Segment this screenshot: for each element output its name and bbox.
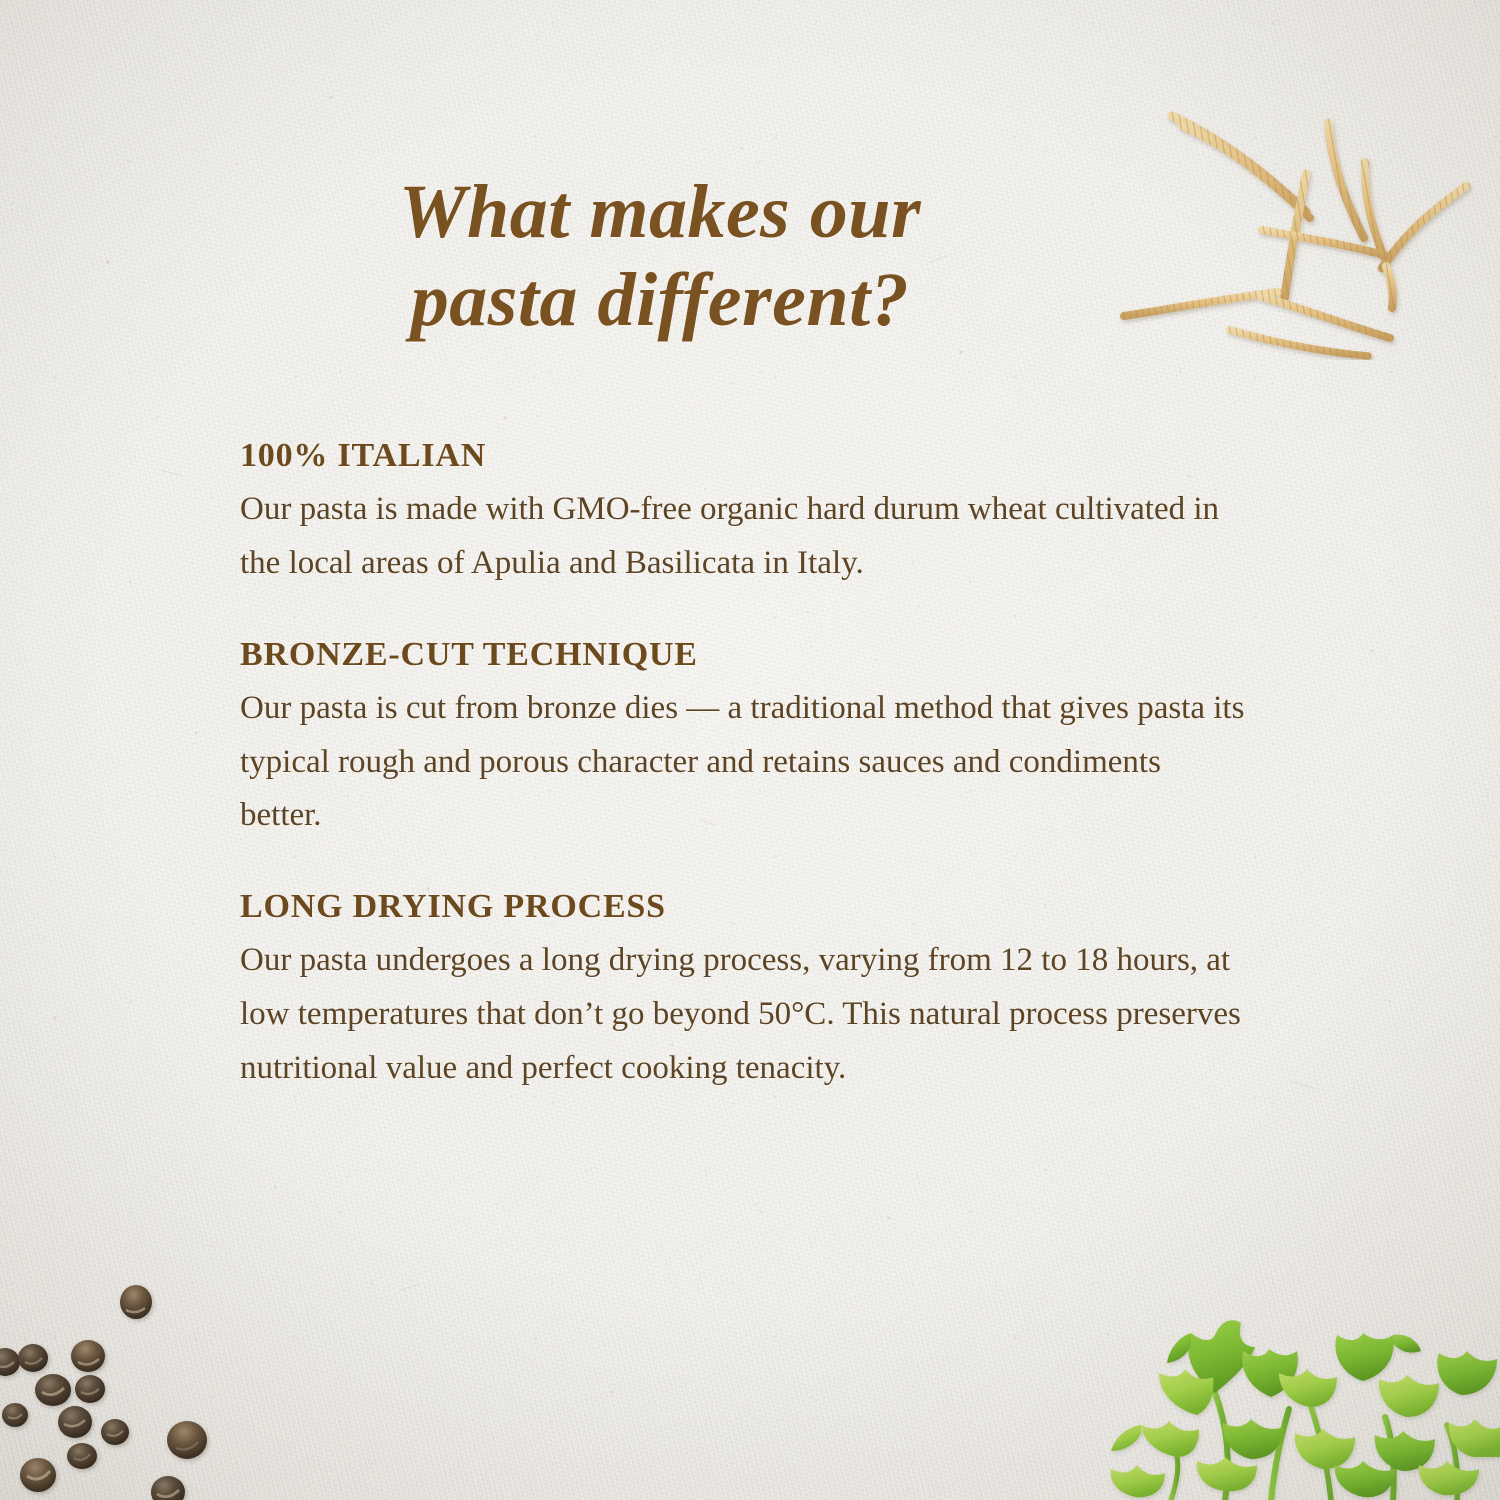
page-title-line-2: pasta different? — [300, 256, 1020, 344]
feature-section-italian: 100% ITALIAN Our pasta is made with GMO-… — [240, 436, 1250, 591]
section-body-bronze-cut: Our pasta is cut from bronze dies — a tr… — [240, 682, 1250, 843]
feature-section-long-drying: LONG DRYING PROCESS Our pasta undergoes … — [240, 887, 1250, 1095]
section-heading-bronze-cut: BRONZE-CUT TECHNIQUE — [240, 635, 1250, 674]
section-body-italian: Our pasta is made with GMO-free organic … — [240, 483, 1250, 591]
page-title: What makes our pasta different? — [300, 168, 1020, 344]
section-body-long-drying: Our pasta undergoes a long drying proces… — [240, 934, 1250, 1095]
section-heading-italian: 100% ITALIAN — [240, 436, 1250, 475]
section-heading-long-drying: LONG DRYING PROCESS — [240, 887, 1250, 926]
feature-section-bronze-cut: BRONZE-CUT TECHNIQUE Our pasta is cut fr… — [240, 635, 1250, 843]
page-title-line-1: What makes our — [300, 168, 1020, 256]
feature-sections: 100% ITALIAN Our pasta is made with GMO-… — [240, 436, 1250, 1096]
pasta-info-poster: What makes our pasta different? 100% ITA… — [0, 0, 1500, 1500]
